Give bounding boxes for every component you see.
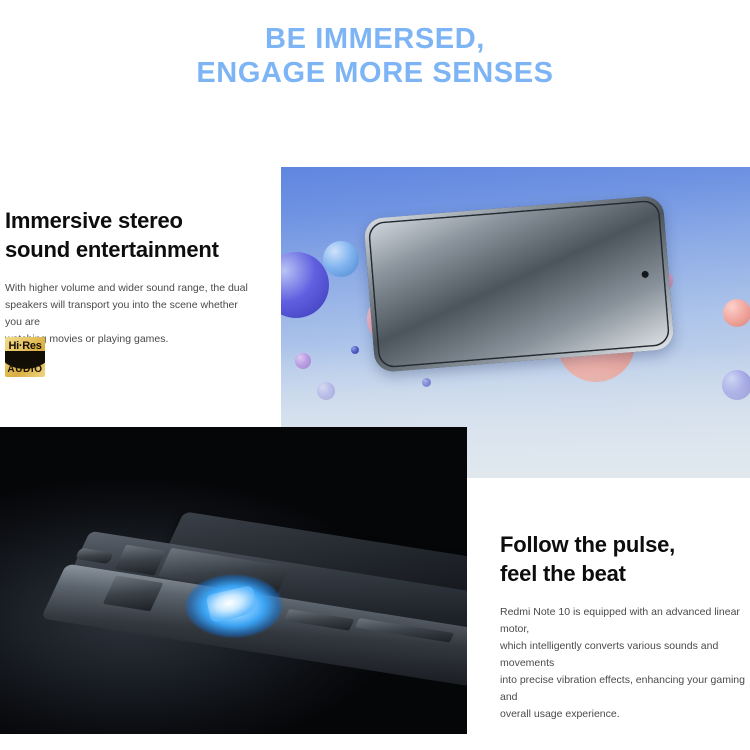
hi-res-audio-badge: Hi·Res AUDIO bbox=[5, 337, 45, 377]
follow-the-pulse-body-line-3: into precise vibration effects, enhancin… bbox=[500, 672, 750, 706]
phone-screen bbox=[368, 200, 671, 369]
sphere-13 bbox=[723, 299, 750, 327]
sphere-6 bbox=[317, 382, 335, 400]
linear-motor-image bbox=[0, 427, 467, 734]
immersive-stereo-body-line-1: With higher volume and wider sound range… bbox=[5, 280, 257, 297]
hi-res-audio-badge-bottom-text: AUDIO bbox=[5, 364, 45, 376]
immersive-stereo-title-line-1: Immersive stereo bbox=[5, 206, 257, 235]
immersive-stereo-section: Immersive stereo sound entertainment Wit… bbox=[5, 206, 257, 348]
follow-the-pulse-body-line-4: overall usage experience. bbox=[500, 706, 750, 723]
sphere-14 bbox=[722, 370, 750, 400]
hero-banner-line-1: BE IMMERSED, bbox=[0, 22, 750, 56]
follow-the-pulse-title-line-1: Follow the pulse, bbox=[500, 530, 750, 559]
sphere-1 bbox=[323, 241, 359, 277]
sphere-4 bbox=[351, 346, 359, 354]
hero-banner: BE IMMERSED, ENGAGE MORE SENSES bbox=[0, 22, 750, 90]
follow-the-pulse-title-line-2: feel the beat bbox=[500, 559, 750, 588]
immersive-stereo-title-line-2: sound entertainment bbox=[5, 235, 257, 264]
follow-the-pulse-body-line-1: Redmi Note 10 is equipped with an advanc… bbox=[500, 604, 750, 638]
sphere-11 bbox=[422, 378, 431, 387]
sphere-0 bbox=[281, 252, 329, 318]
follow-the-pulse-body-line-2: which intelligently converts various sou… bbox=[500, 638, 750, 672]
immersive-stereo-body-line-2: speakers will transport you into the sce… bbox=[5, 297, 257, 331]
follow-the-pulse-body: Redmi Note 10 is equipped with an advanc… bbox=[500, 604, 750, 723]
phone-frame bbox=[363, 195, 674, 373]
follow-the-pulse-section: Follow the pulse, feel the beat Redmi No… bbox=[500, 530, 750, 723]
hero-banner-line-2: ENGAGE MORE SENSES bbox=[0, 56, 750, 90]
immersive-stereo-title: Immersive stereo sound entertainment bbox=[5, 206, 257, 264]
follow-the-pulse-title: Follow the pulse, feel the beat bbox=[500, 530, 750, 588]
sphere-5 bbox=[295, 353, 311, 369]
front-camera-icon bbox=[641, 270, 649, 278]
